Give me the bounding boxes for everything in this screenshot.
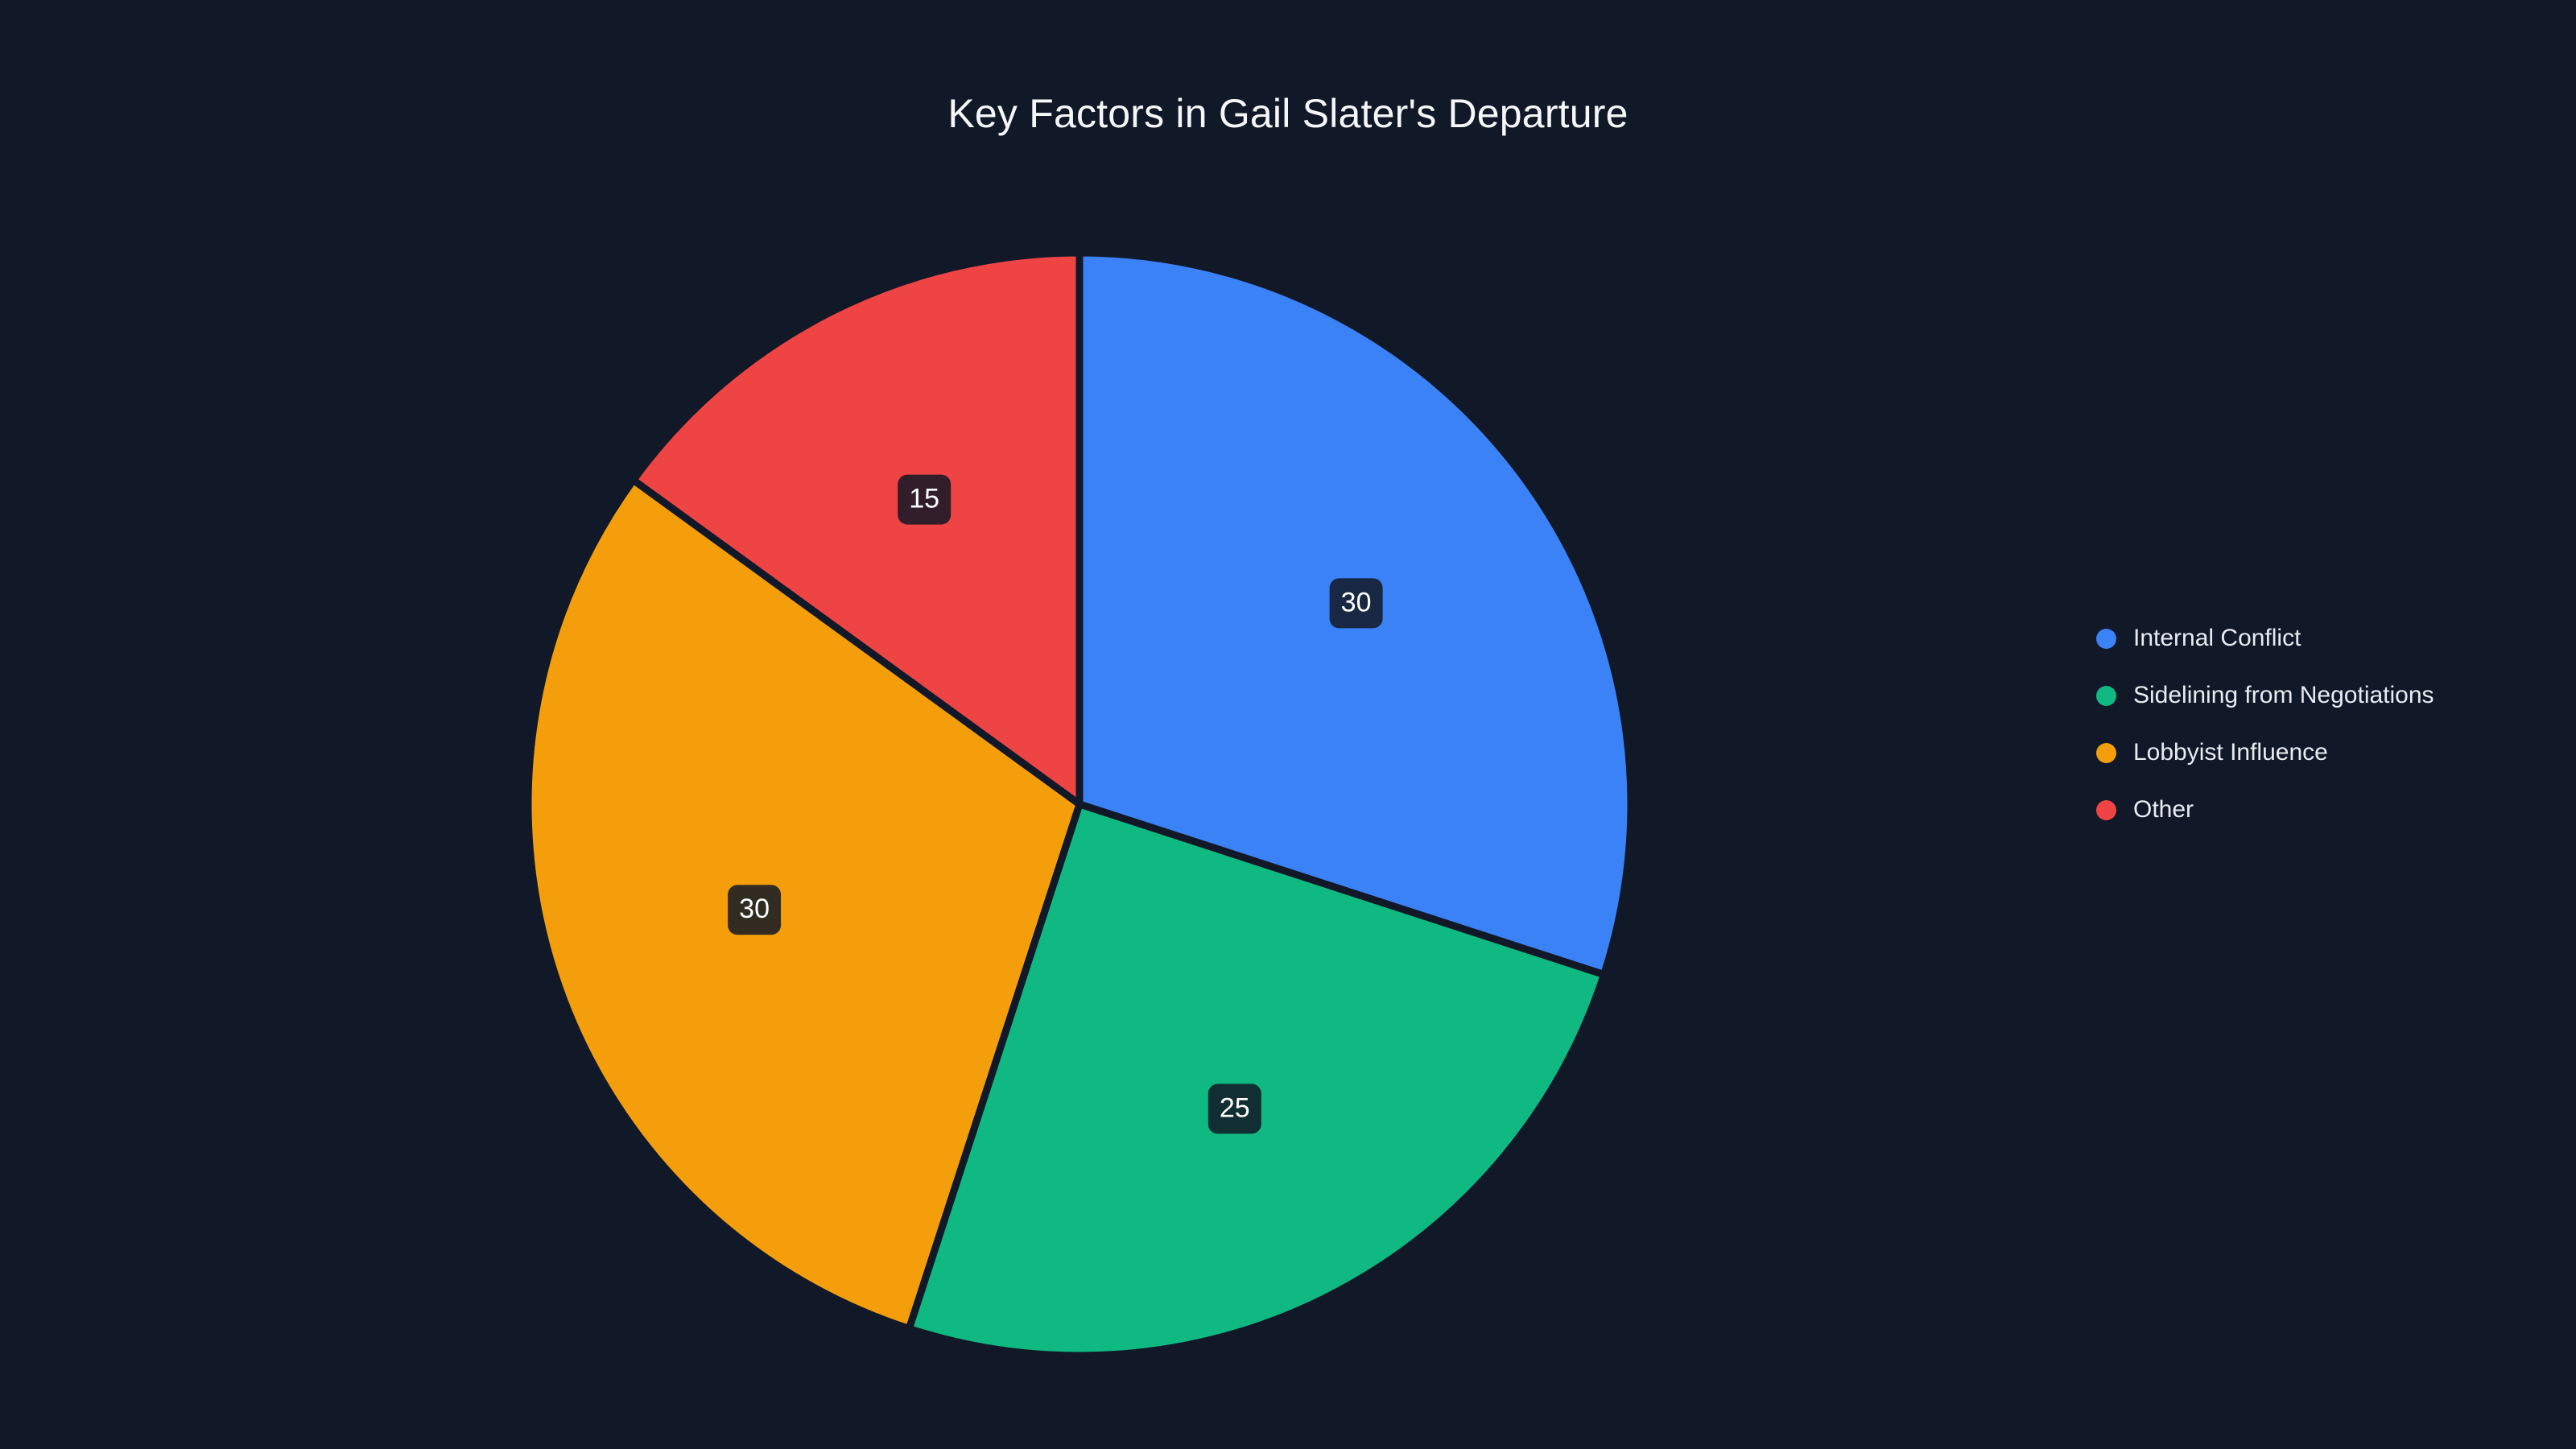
pie-slice-label: 30 — [1341, 587, 1372, 617]
legend-swatch-icon — [2096, 686, 2116, 706]
pie-slices — [528, 253, 1631, 1356]
legend-item[interactable]: Sidelining from Negotiations — [2096, 674, 2547, 717]
legend-item[interactable]: Lobbyist Influence — [2096, 731, 2547, 774]
legend-item-label: Internal Conflict — [2133, 626, 2301, 650]
legend-item-label: Other — [2133, 798, 2194, 822]
legend-swatch-icon — [2096, 800, 2116, 820]
chart-canvas: Key Factors in Gail Slater's Departure 3… — [0, 0, 2576, 1449]
legend-swatch-icon — [2096, 743, 2116, 763]
pie-slice-label: 30 — [739, 894, 770, 924]
legend-swatch-icon — [2096, 629, 2116, 649]
pie-slice-label: 15 — [909, 484, 939, 514]
legend-item[interactable]: Internal Conflict — [2096, 617, 2547, 660]
legend-item[interactable]: Other — [2096, 788, 2547, 832]
legend-item-label: Sidelining from Negotiations — [2133, 683, 2434, 708]
chart-legend: Internal ConflictSidelining from Negotia… — [2096, 617, 2547, 845]
legend-item-label: Lobbyist Influence — [2133, 741, 2328, 765]
pie-slice-label: 25 — [1220, 1092, 1250, 1123]
